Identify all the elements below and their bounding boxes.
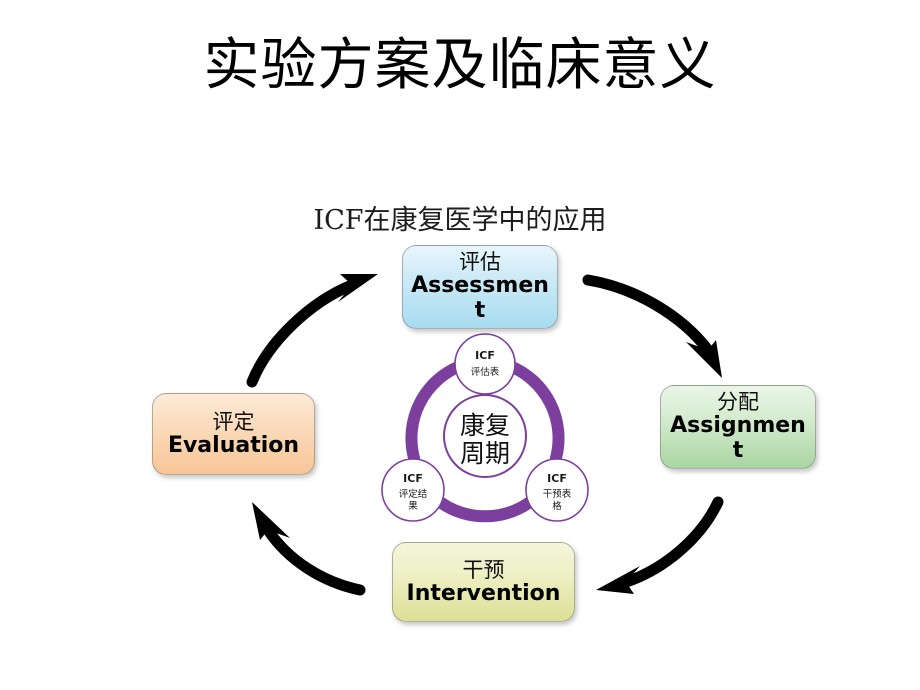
- ring-node-tag: ICF: [547, 472, 567, 485]
- rehabilitation-cycle-diagram: 康复 周期 ICF 评估表 ICF 评定结 果 ICF 干预表 格: [0, 230, 920, 650]
- presentation-slide: 实验方案及临床意义 ICF在康复医学中的应用: [0, 0, 920, 690]
- stage-label-cn: 评定: [213, 410, 255, 434]
- ring-node-line1: 干预表: [543, 488, 572, 500]
- ring-node-tag: ICF: [475, 349, 495, 362]
- ring-node-tag: ICF: [403, 472, 423, 485]
- stage-label-cn: 分配: [717, 390, 759, 414]
- stage-box-intervention[interactable]: 干预 Intervention: [392, 542, 575, 622]
- stage-box-assignment[interactable]: 分配 Assignment: [660, 385, 816, 469]
- ring-core: 康复 周期: [444, 395, 526, 477]
- arrow-intervention-to-evaluation: [252, 502, 360, 590]
- page-title: 实验方案及临床意义: [0, 34, 920, 98]
- stage-box-assessment[interactable]: 评估 Assessment: [402, 245, 558, 329]
- arrow-evaluation-to-assessment: [252, 274, 378, 382]
- stage-label-en: Intervention: [407, 582, 561, 607]
- stage-box-evaluation[interactable]: 评定 Evaluation: [152, 393, 315, 475]
- ring-node-line2: 果: [408, 501, 418, 512]
- arrow-assignment-to-intervention: [596, 502, 718, 594]
- ring-node-icf-evaluation-result[interactable]: ICF 评定结 果: [382, 459, 444, 521]
- icf-ring-graphic: 康复 周期 ICF 评估表 ICF 评定结 果 ICF 干预表 格: [368, 330, 602, 530]
- stage-label-en: Assessment: [409, 274, 551, 323]
- ring-node-icf-intervention-table[interactable]: ICF 干预表 格: [526, 459, 588, 521]
- stage-label-cn: 干预: [463, 558, 505, 582]
- stage-label-en: Assignment: [667, 414, 809, 463]
- stage-label-en: Evaluation: [168, 434, 299, 459]
- ring-node-line1: 评定结: [399, 488, 428, 500]
- ring-node-line1: 评估表: [471, 366, 500, 378]
- ring-core-line2: 周期: [460, 439, 510, 468]
- stage-label-cn: 评估: [459, 250, 501, 274]
- ring-core-line1: 康复: [460, 411, 510, 440]
- ring-node-line2: 格: [552, 500, 562, 512]
- ring-node-icf-assessment-form[interactable]: ICF 评估表: [455, 334, 515, 394]
- arrow-assessment-to-assignment: [588, 280, 722, 378]
